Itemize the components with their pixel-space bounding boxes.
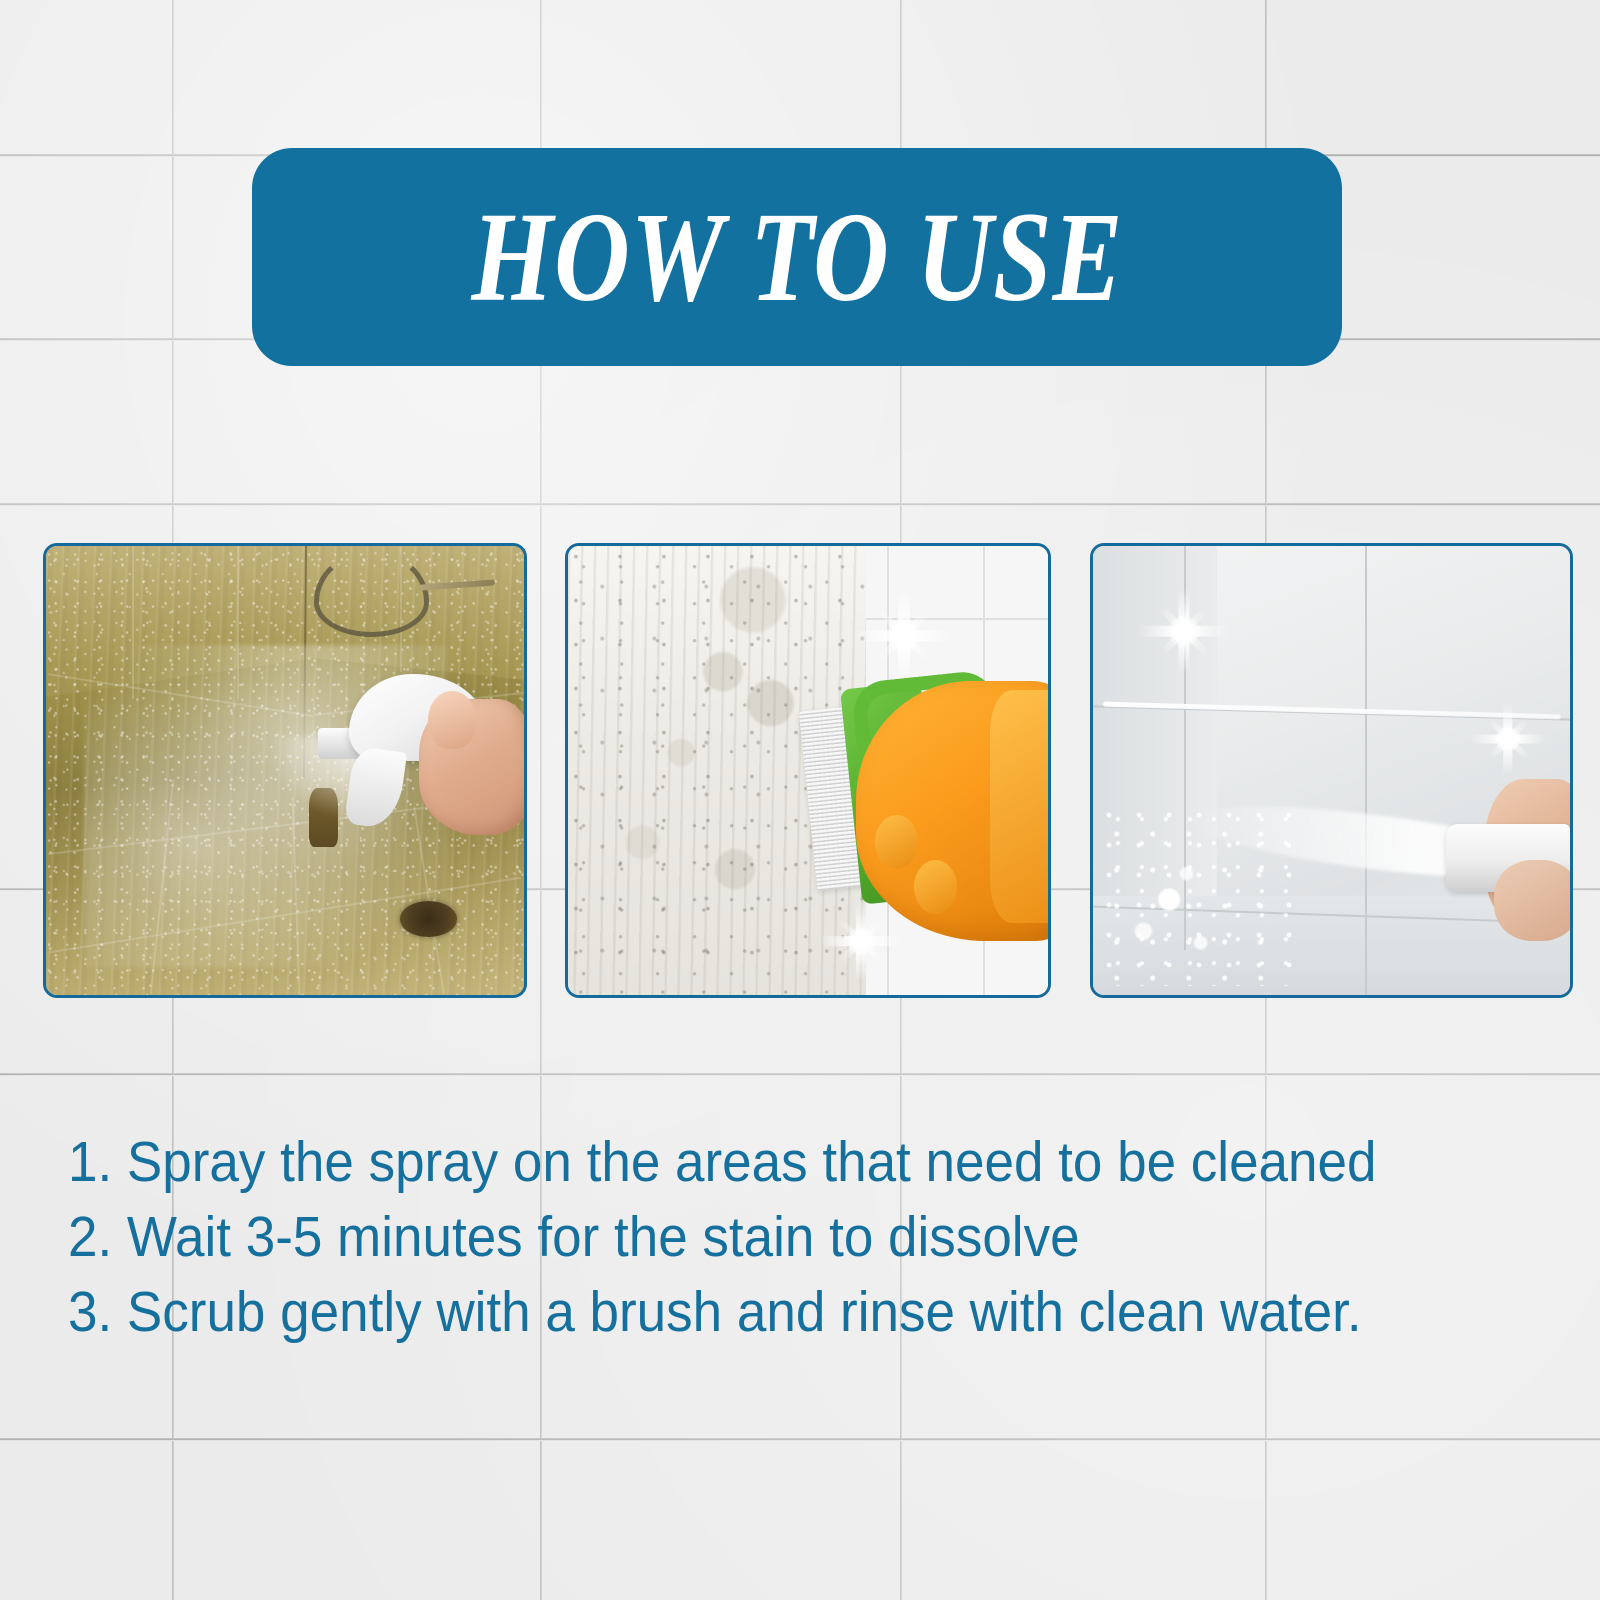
grout-line-horizontal xyxy=(0,1438,1600,1441)
title-banner: HOW TO USE xyxy=(252,148,1342,366)
instruction-step-3: 3. Scrub gently with a brush and rinse w… xyxy=(68,1275,1444,1350)
photo-clean-rinse xyxy=(1093,546,1570,995)
photo-dirty-shower xyxy=(46,546,524,995)
thumb xyxy=(428,691,476,749)
floor-drain-icon xyxy=(400,901,457,937)
tile-seam xyxy=(1365,546,1367,995)
tile-seam xyxy=(1184,546,1186,717)
instruction-list: 1. Spray the spray on the areas that nee… xyxy=(68,1125,1548,1350)
fingers xyxy=(1494,860,1570,941)
page-title: HOW TO USE xyxy=(471,193,1123,321)
water-droplets xyxy=(1103,806,1294,986)
glove-cuff xyxy=(990,690,1048,923)
step-image-spray xyxy=(43,543,527,998)
spray-bottle-icon xyxy=(314,654,524,861)
step-image-scrub xyxy=(565,543,1051,998)
grout-line-horizontal xyxy=(0,1073,1600,1076)
step-image-rinse xyxy=(1090,543,1573,998)
instruction-step-1: 1. Spray the spray on the areas that nee… xyxy=(68,1125,1444,1200)
infographic-page: HOW TO USE xyxy=(0,0,1600,1600)
glove-finger xyxy=(914,860,957,914)
instruction-step-2: 2. Wait 3-5 minutes for the stain to dis… xyxy=(68,1200,1444,1275)
photo-scrubbing xyxy=(568,546,1048,995)
grout-line-horizontal xyxy=(0,503,1600,506)
